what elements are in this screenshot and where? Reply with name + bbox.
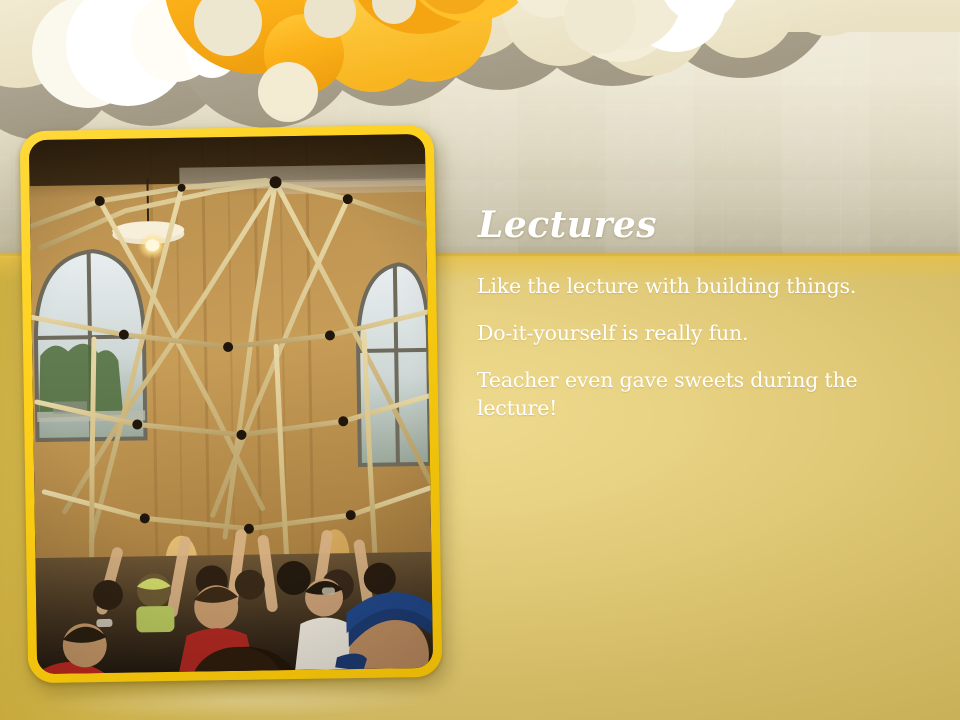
body-text-block: Like the lecture with building things. D… <box>477 272 877 422</box>
body-line: Like the lecture with building things. <box>477 272 877 300</box>
body-line: Do-it-yourself is really fun. <box>477 319 877 347</box>
body-line: Teacher even gave sweets during the lect… <box>477 366 877 422</box>
page-title: Lectures <box>478 204 657 246</box>
slide-canvas: Lectures Like the lecture with building … <box>0 0 960 720</box>
photo-scene <box>29 134 433 674</box>
photo-frame[interactable] <box>20 125 443 683</box>
photo-image <box>29 134 433 674</box>
